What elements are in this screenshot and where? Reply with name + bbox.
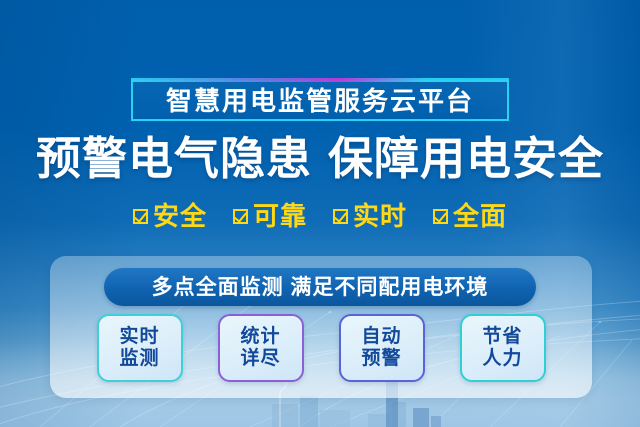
headline-part-2: 保障用电安全 [328, 133, 604, 184]
checklist-item-label: 安全 [153, 203, 207, 229]
checklist-item: 全面 [433, 203, 507, 229]
platform-title-text: 智慧用电监管服务云平台 [166, 88, 474, 114]
checkbox-checked-icon [233, 209, 248, 224]
checklist-item-label: 可靠 [253, 203, 307, 229]
feature-card-list: 实时 监测 统计 详尽 自动 预警 节省 人力 [50, 314, 592, 382]
feature-card-line-1: 统计 [240, 326, 280, 348]
feature-checklist: 安全 可靠 实时 全面 [0, 203, 640, 229]
checklist-item-label: 实时 [353, 203, 407, 229]
checklist-item: 可靠 [233, 203, 307, 229]
feature-card-line-1: 实时 [119, 326, 159, 348]
feature-card-line-2: 人力 [482, 348, 522, 370]
feature-card-line-2: 监测 [119, 348, 159, 370]
headline-part-1: 预警电气隐患 [36, 133, 312, 184]
feature-card-line-2: 详尽 [240, 348, 280, 370]
checklist-item-label: 全面 [453, 203, 507, 229]
platform-title-chip: 智慧用电监管服务云平台 [131, 80, 509, 121]
feature-card-line-1: 节省 [482, 326, 522, 348]
feature-card-line-1: 自动 [361, 326, 401, 348]
checkbox-checked-icon [433, 209, 448, 224]
promo-banner: 智慧用电监管服务云平台 预警电气隐患保障用电安全 安全 可靠 实时 全面 多点全… [0, 0, 640, 427]
subtitle-pill: 多点全面监测 满足不同配用电环境 [104, 268, 536, 306]
feature-card-line-2: 预警 [361, 348, 401, 370]
checkbox-checked-icon [333, 209, 348, 224]
feature-card-labor-saving[interactable]: 节省 人力 [460, 314, 546, 382]
subtitle-pill-text: 多点全面监测 满足不同配用电环境 [152, 277, 489, 298]
checklist-item: 安全 [133, 203, 207, 229]
headline: 预警电气隐患保障用电安全 [0, 136, 640, 181]
checkbox-checked-icon [133, 209, 148, 224]
feature-card-realtime-monitoring[interactable]: 实时 监测 [97, 314, 183, 382]
feature-card-automatic-alarm[interactable]: 自动 预警 [339, 314, 425, 382]
feature-card-detailed-statistics[interactable]: 统计 详尽 [218, 314, 304, 382]
checklist-item: 实时 [333, 203, 407, 229]
